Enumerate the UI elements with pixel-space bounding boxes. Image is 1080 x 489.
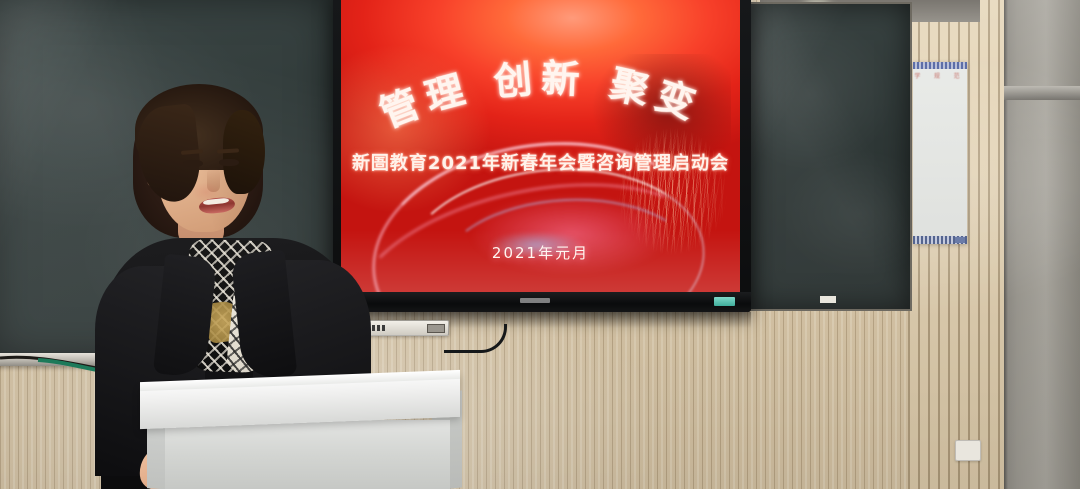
eye (219, 159, 239, 166)
panel-port-icon (377, 325, 380, 331)
eye (183, 160, 203, 167)
chalkboard-clip (820, 296, 836, 303)
panel-port-icon (372, 325, 375, 331)
screen-subtitle: 新圄教育2021年新春年会暨咨询管理启动会 (341, 149, 740, 175)
panel-port-icon (382, 325, 385, 331)
poster-banner (913, 62, 967, 69)
concrete-corner-column (1004, 0, 1080, 489)
panel-socket-icon (427, 324, 445, 333)
display-status-sticker (714, 297, 735, 306)
poster-tag (955, 237, 965, 243)
corner-shelf (1004, 86, 1080, 100)
classroom-photo-scene: 学 规 范 管理 创新 聚变 (0, 0, 1080, 489)
chalk-smudge (750, 4, 910, 309)
poster-title: 学 规 范 (913, 71, 967, 80)
presentation-screen[interactable]: 管理 创新 聚变 新圄教育2021年新春年会暨咨询管理启动会 2021年元月 (341, 0, 740, 294)
podium-front-panel (165, 420, 450, 489)
chalkboard-right (748, 2, 912, 311)
wall-outlet[interactable] (955, 440, 981, 461)
display-brand-logo (520, 298, 550, 303)
wall-poster: 学 规 范 (913, 62, 967, 244)
screen-bottom-glow (341, 230, 740, 294)
